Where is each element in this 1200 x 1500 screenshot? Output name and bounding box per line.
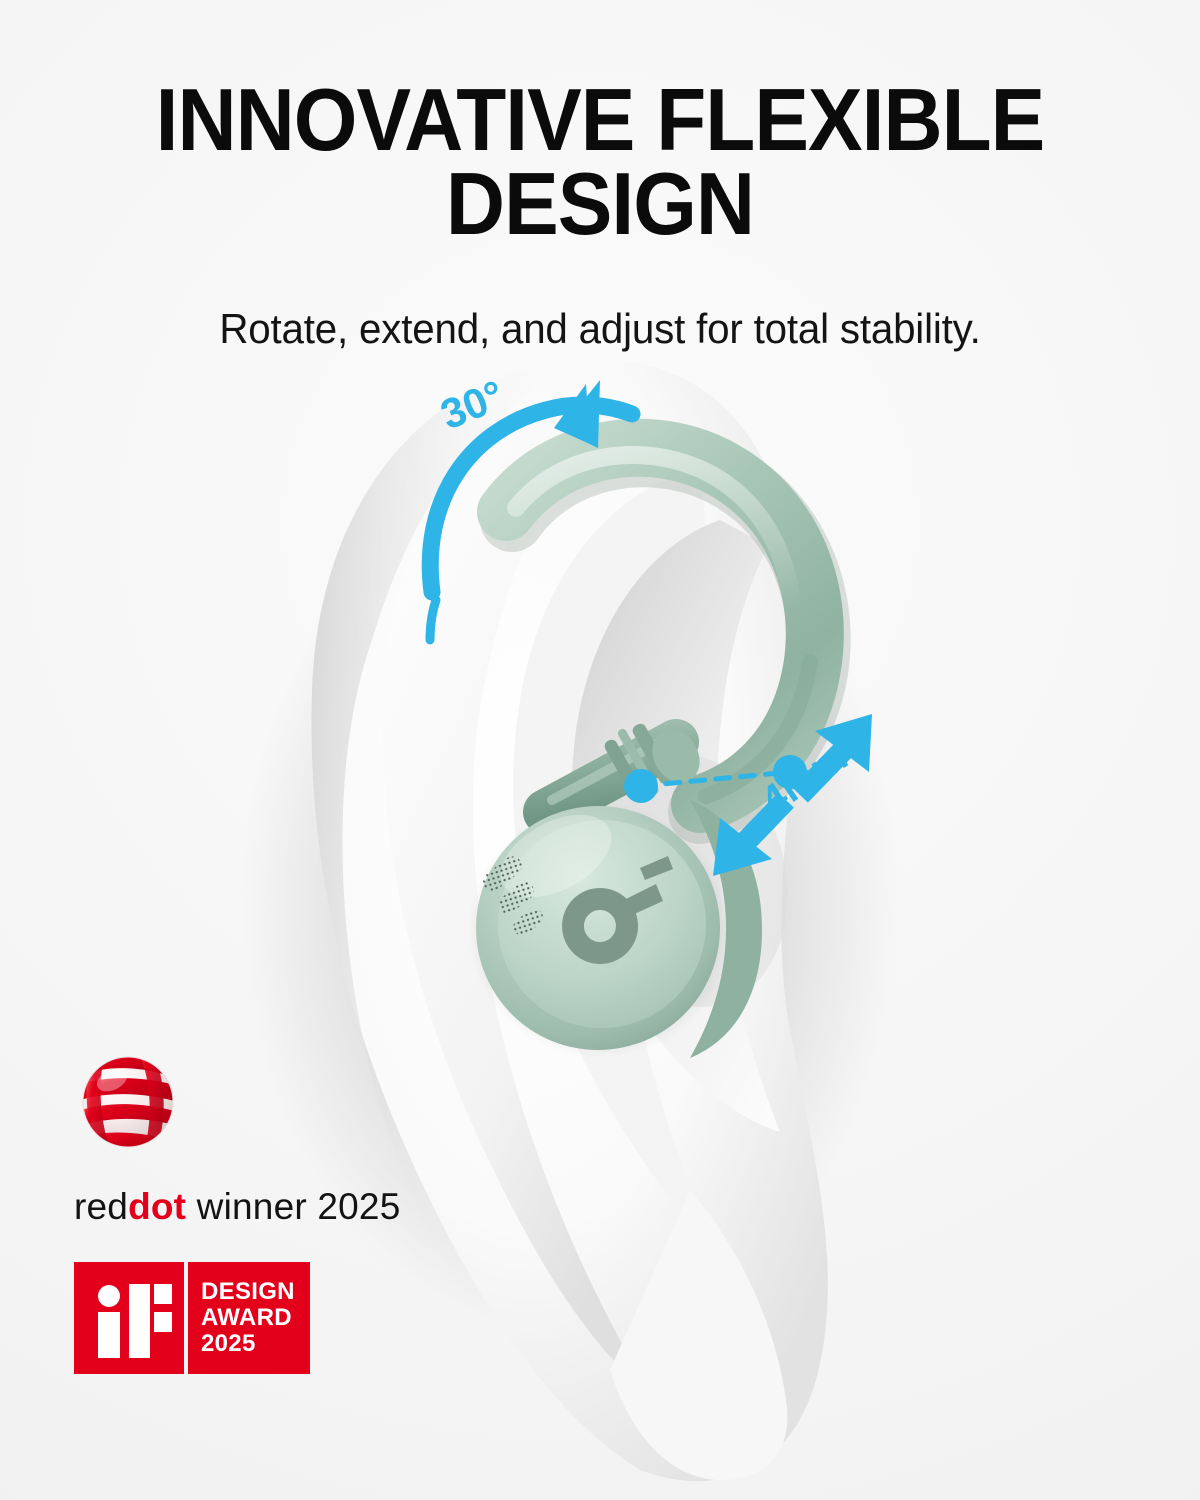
if-line-year: 2025 xyxy=(201,1331,310,1357)
if-award-text: DESIGN AWARD 2025 xyxy=(188,1262,310,1374)
reddot-prefix: red xyxy=(74,1186,128,1227)
if-line-design: DESIGN xyxy=(201,1279,310,1305)
page-subtitle: Rotate, extend, and adjust for total sta… xyxy=(24,305,1176,353)
reddot-award-label: reddot winner 2025 xyxy=(74,1186,404,1228)
reddot-suffix: winner 2025 xyxy=(186,1186,400,1227)
reddot-accent: dot xyxy=(128,1186,186,1227)
page-title: INNOVATIVE FLEXIBLE DESIGN xyxy=(42,78,1158,247)
if-line-award: AWARD xyxy=(201,1305,310,1331)
awards-section: reddot winner 2025 DESIGN AWARD 2025 xyxy=(74,1052,404,1374)
if-design-award-badge: DESIGN AWARD 2025 xyxy=(74,1262,310,1374)
reddot-sphere-icon xyxy=(78,1052,178,1152)
measure-dot-start xyxy=(624,769,658,803)
product-marketing-image: INNOVATIVE FLEXIBLE DESIGN Rotate, exten… xyxy=(0,0,1200,1500)
if-logo-icon xyxy=(74,1262,184,1374)
